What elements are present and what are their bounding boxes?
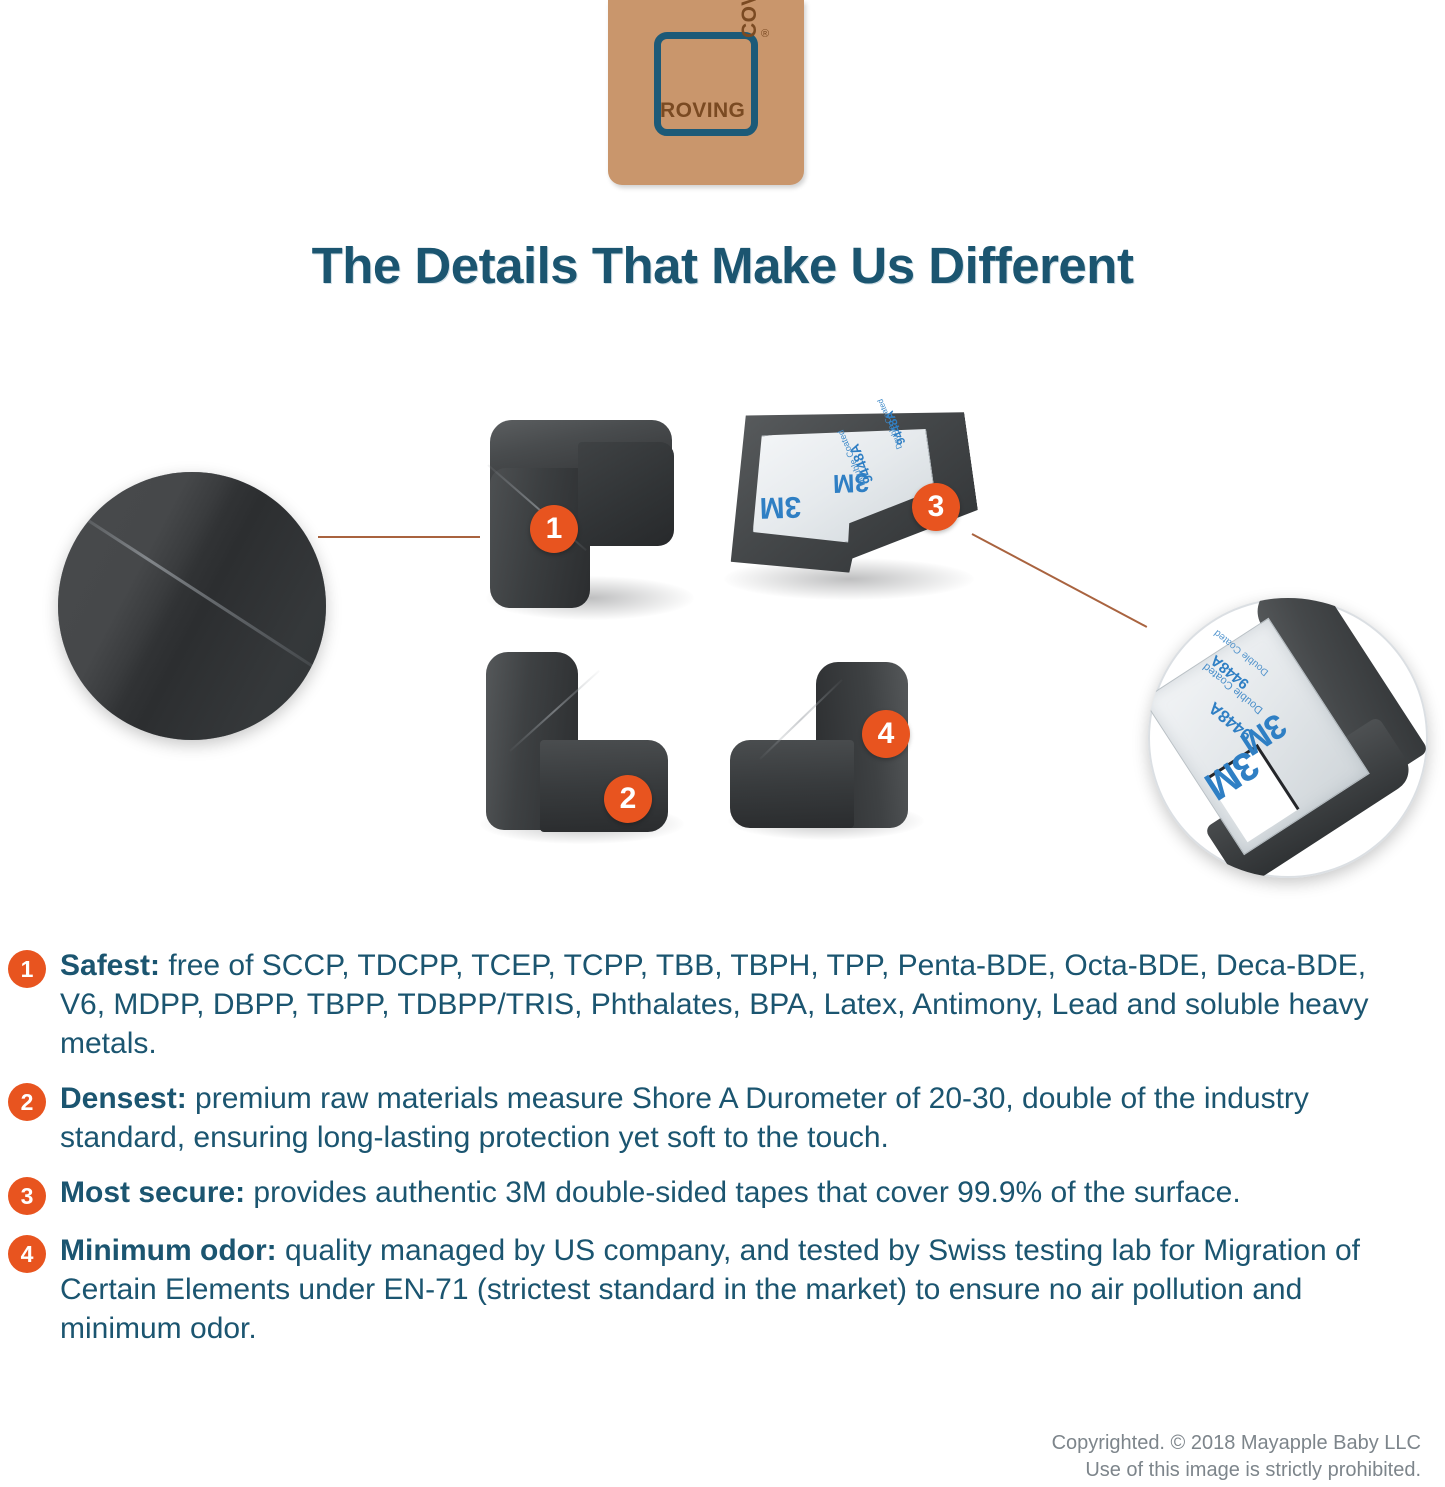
feature-item-3: 3 Most secure: provides authentic 3M dou…: [0, 1173, 1445, 1215]
feature-lead-3: Most secure:: [60, 1176, 245, 1209]
feature-text-1: Safest: free of SCCP, TDCPP, TCEP, TCPP,…: [60, 946, 1445, 1063]
feature-text-4: Minimum odor: quality managed by US comp…: [60, 1231, 1445, 1348]
tape-corner-magnifier: 3M 3M 9448A Double Coated 9448A Double C…: [1148, 598, 1428, 878]
feature-lead-2: Densest:: [60, 1082, 187, 1115]
product-photo-stage: 3M 3M 9448A Double Coated 9448A Double C…: [0, 380, 1445, 910]
feature-badge-2: 2: [8, 1083, 46, 1121]
guard-front-face: [578, 442, 674, 546]
feature-body-1: free of SCCP, TDCPP, TCEP, TCPP, TBB, TB…: [60, 949, 1369, 1060]
magnified-corner-guard: 3M 3M 9448A Double Coated 9448A Double C…: [1148, 598, 1428, 878]
feature-item-1: 1 Safest: free of SCCP, TDCPP, TCEP, TCP…: [0, 946, 1445, 1063]
feature-item-2: 2 Densest: premium raw materials measure…: [0, 1079, 1445, 1157]
brand-logo: ROVING COVE ®: [608, 0, 804, 185]
feature-badge-4: 4: [8, 1235, 46, 1273]
guard-arm-horizontal: [730, 740, 854, 828]
registered-trademark-icon: ®: [761, 28, 769, 40]
copyright-notice: Copyrighted. © 2018 Mayapple Baby LLC Us…: [1052, 1430, 1421, 1484]
photo-badge-3: 3: [912, 483, 960, 531]
feature-text-2: Densest: premium raw materials measure S…: [60, 1079, 1445, 1157]
photo-badge-4: 4: [862, 710, 910, 758]
product-corner-guard-1: [482, 420, 674, 605]
feature-list: 1 Safest: free of SCCP, TDCPP, TCEP, TCP…: [0, 946, 1445, 1364]
connector-line-left: [318, 536, 480, 538]
feature-lead-4: Minimum odor:: [60, 1234, 277, 1267]
photo-badge-2: 2: [604, 775, 652, 823]
feature-text-3: Most secure: provides authentic 3M doubl…: [60, 1173, 1445, 1212]
guard-arm-horizontal: [540, 740, 668, 832]
copyright-line-2: Use of this image is strictly prohibited…: [1052, 1457, 1421, 1484]
feature-body-3: provides authentic 3M double-sided tapes…: [245, 1176, 1241, 1209]
infographic-page: ROVING COVE ® The Details That Make Us D…: [0, 0, 1445, 1487]
feature-body-2: premium raw materials measure Shore A Du…: [60, 1082, 1309, 1154]
photo-badge-1: 1: [530, 505, 578, 553]
feature-badge-3: 3: [8, 1177, 46, 1215]
logo-word-roving: ROVING: [660, 100, 745, 121]
foam-surface-texture: [58, 472, 326, 740]
foam-surface-magnifier: [58, 472, 326, 740]
page-title: The Details That Make Us Different: [0, 236, 1445, 295]
copyright-line-1: Copyrighted. © 2018 Mayapple Baby LLC: [1052, 1430, 1421, 1457]
feature-item-4: 4 Minimum odor: quality managed by US co…: [0, 1231, 1445, 1348]
feature-badge-1: 1: [8, 950, 46, 988]
feature-lead-1: Safest:: [60, 949, 160, 982]
tape-brand-text: 3M: [759, 489, 802, 524]
logo-word-cove: COVE: [739, 0, 760, 38]
